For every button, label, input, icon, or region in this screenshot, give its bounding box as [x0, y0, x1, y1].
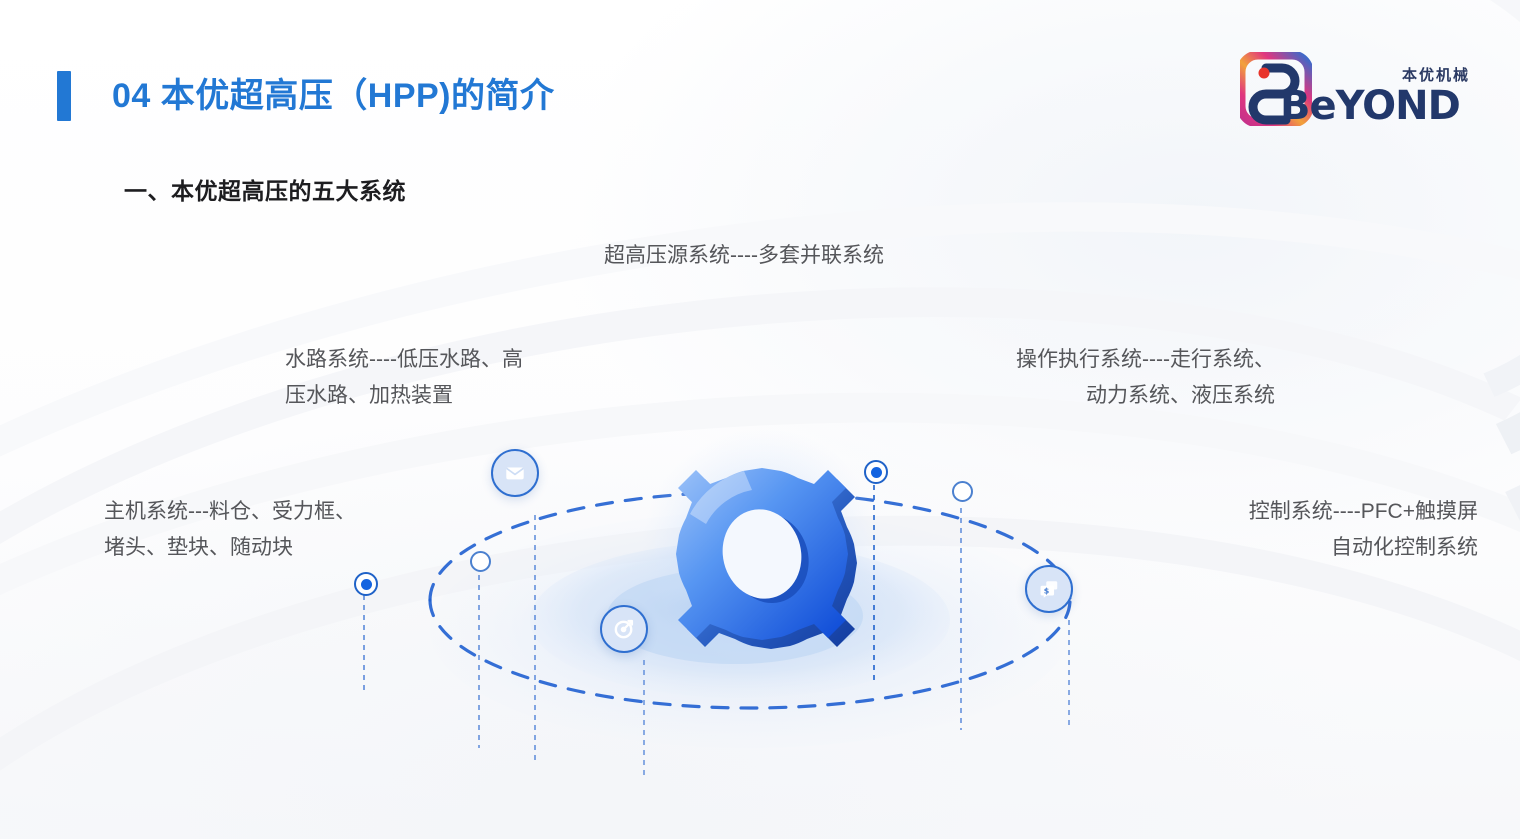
marker-right-filled[interactable] — [864, 460, 888, 484]
money-node[interactable]: $ — [1025, 565, 1073, 613]
marker-left-filled[interactable] — [354, 572, 378, 596]
marker-left-hollow[interactable] — [470, 551, 491, 572]
section-heading: 一、本优超高压的五大系统 — [124, 172, 406, 206]
gear-3d-icon — [676, 468, 857, 649]
mail-node[interactable] — [491, 449, 539, 497]
marker-right-hollow[interactable] — [952, 481, 973, 502]
slide-root: 04 本优超高压（HPP)的简介 一、本优超高压的五大系统 本 — [0, 0, 1520, 839]
envelope-icon — [504, 462, 526, 484]
diagram-canvas — [300, 430, 1220, 820]
target-node[interactable] — [600, 605, 648, 653]
label-operation-execution-system: 操作执行系统----走行系统、 动力系统、液压系统 — [940, 342, 1275, 414]
label-water-circuit-system: 水路系统----低压水路、高 压水路、加热装置 — [285, 342, 605, 414]
label-power-source-system: 超高压源系统----多套并联系统 — [604, 238, 884, 274]
target-arrow-icon — [613, 618, 635, 640]
marker-core — [361, 579, 372, 590]
logo-wordmark: BeYOND — [1280, 86, 1460, 126]
money-document-icon: $ — [1038, 578, 1060, 600]
marker-core — [871, 467, 882, 478]
logo-chinese-name: 本优机械 — [1402, 64, 1470, 85]
page-title: 04 本优超高压（HPP)的简介 — [112, 72, 555, 120]
system-diagram: $ — [300, 430, 1220, 820]
brand-logo: 本优机械 BeYOND — [1240, 48, 1472, 132]
svg-text:$: $ — [1044, 587, 1049, 596]
title-accent-bar — [57, 71, 71, 121]
